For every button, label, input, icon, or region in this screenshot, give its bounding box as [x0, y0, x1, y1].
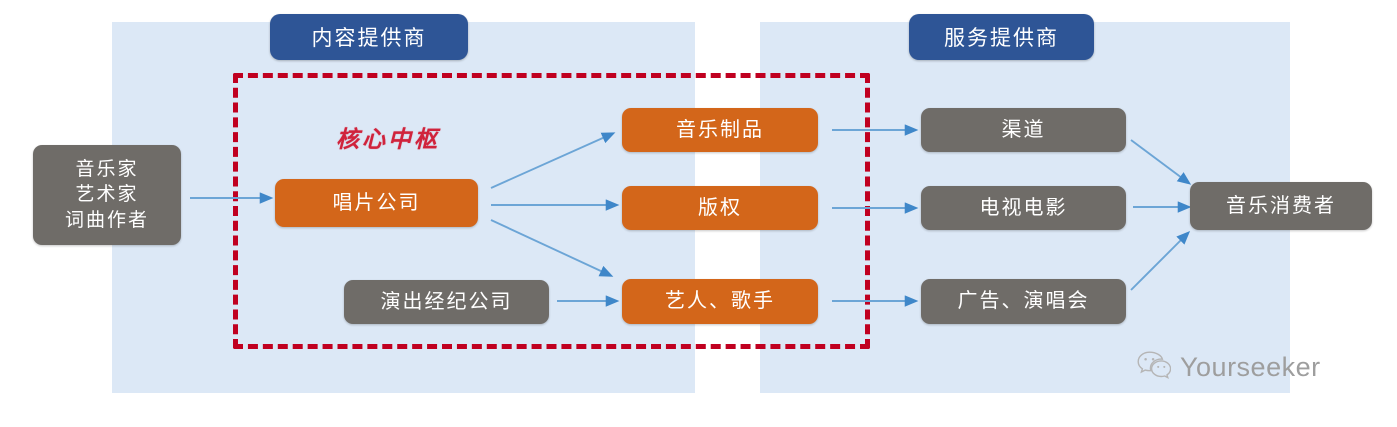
node-creators-line3: 词曲作者	[65, 208, 149, 233]
watermark: Yourseeker	[1137, 350, 1321, 385]
diagram-canvas: 内容提供商 服务提供商 核心中枢 音乐家 艺术家 词曲作者 唱片公司 演出经纪公…	[0, 0, 1397, 427]
core-hub-annotation: 核心中枢	[336, 120, 440, 154]
node-creators: 音乐家 艺术家 词曲作者	[33, 145, 181, 245]
node-record-label-company: 唱片公司	[275, 179, 478, 227]
node-creators-line2: 艺术家	[75, 182, 138, 207]
node-music-products: 音乐制品	[622, 108, 818, 152]
node-tv-film: 电视电影	[921, 186, 1126, 230]
header-service-provider: 服务提供商	[909, 14, 1094, 60]
node-channels: 渠道	[921, 108, 1126, 152]
node-artists-singers: 艺人、歌手	[622, 279, 818, 324]
watermark-text: Yourseeker	[1180, 352, 1321, 383]
node-performance-agency: 演出经纪公司	[344, 280, 549, 324]
node-creators-line1: 音乐家	[75, 157, 138, 182]
wechat-icon	[1137, 350, 1171, 385]
node-music-consumers: 音乐消费者	[1190, 182, 1372, 230]
header-content-provider: 内容提供商	[270, 14, 468, 60]
node-copyright: 版权	[622, 186, 818, 230]
node-advertising-concert: 广告、演唱会	[921, 279, 1126, 324]
